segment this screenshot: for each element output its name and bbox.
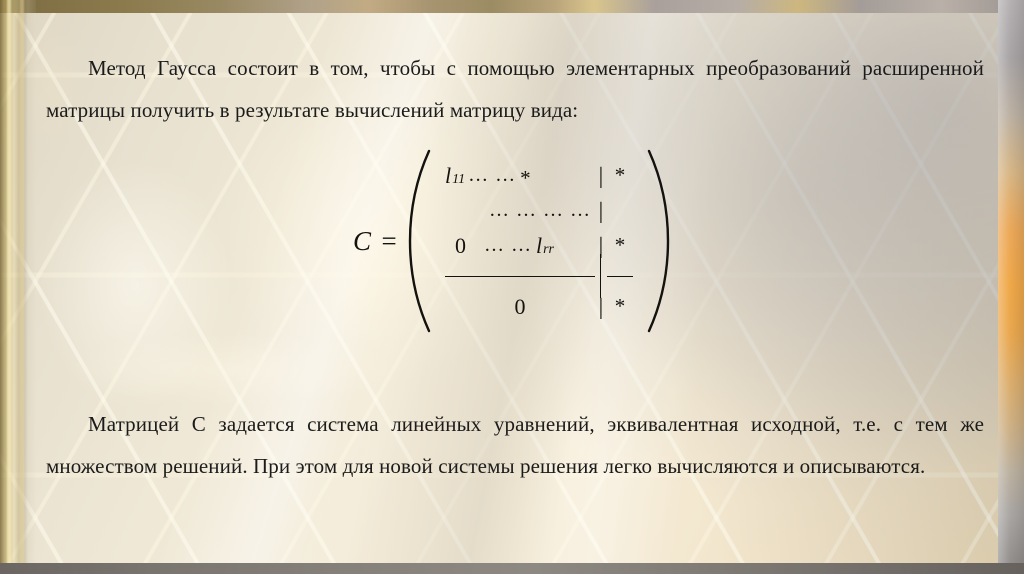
matrix-horizontal-rule-left: [445, 276, 595, 277]
row2-ellipsis: … … … …: [485, 199, 595, 222]
slide-content: Метод Гаусса состоит в том, чтобы с помо…: [0, 0, 1024, 574]
augment-bar: |: [595, 295, 607, 318]
matrix-row: l11 … … * | *: [445, 158, 633, 193]
matrix-horizontal-rule-right: [607, 276, 633, 277]
matrix-rows: l11 … … * | * … … … … |: [439, 156, 639, 326]
row3-zero: 0: [445, 233, 466, 259]
row1-rhs-star: *: [607, 163, 633, 188]
element-lrr-subscript: rr: [543, 242, 554, 258]
element-lrr-symbol: l: [536, 233, 542, 259]
row1-star: *: [520, 166, 531, 191]
row3-ellipsis: … …: [466, 234, 536, 257]
matrix-formula: C = l11 … … * | *: [0, 148, 1024, 334]
augment-bar: |: [595, 164, 607, 187]
row1-ellipsis: … …: [464, 164, 520, 187]
row5-rhs-star: *: [607, 294, 633, 319]
augment-bar: |: [595, 199, 607, 222]
formula-lhs-label: C =: [353, 226, 401, 257]
matrix-row: 0 | *: [445, 289, 633, 324]
slide-canvas: Метод Гаусса состоит в том, чтобы с помо…: [0, 0, 1024, 574]
row3-rhs-star: *: [607, 233, 633, 258]
matrix-row: … … … … |: [445, 193, 633, 228]
row5-zero: 0: [514, 294, 525, 320]
matrix-divider-row: [445, 263, 633, 289]
element-l11-subscript: 11: [452, 172, 465, 188]
left-parenthesis-icon: [407, 148, 433, 334]
right-parenthesis-icon: [645, 148, 671, 334]
paragraph-intro: Метод Гаусса состоит в том, чтобы с помо…: [46, 47, 984, 131]
paragraph-conclusion: Матрицей C задается система линейных ура…: [46, 403, 984, 487]
element-l11-symbol: l: [445, 163, 451, 189]
